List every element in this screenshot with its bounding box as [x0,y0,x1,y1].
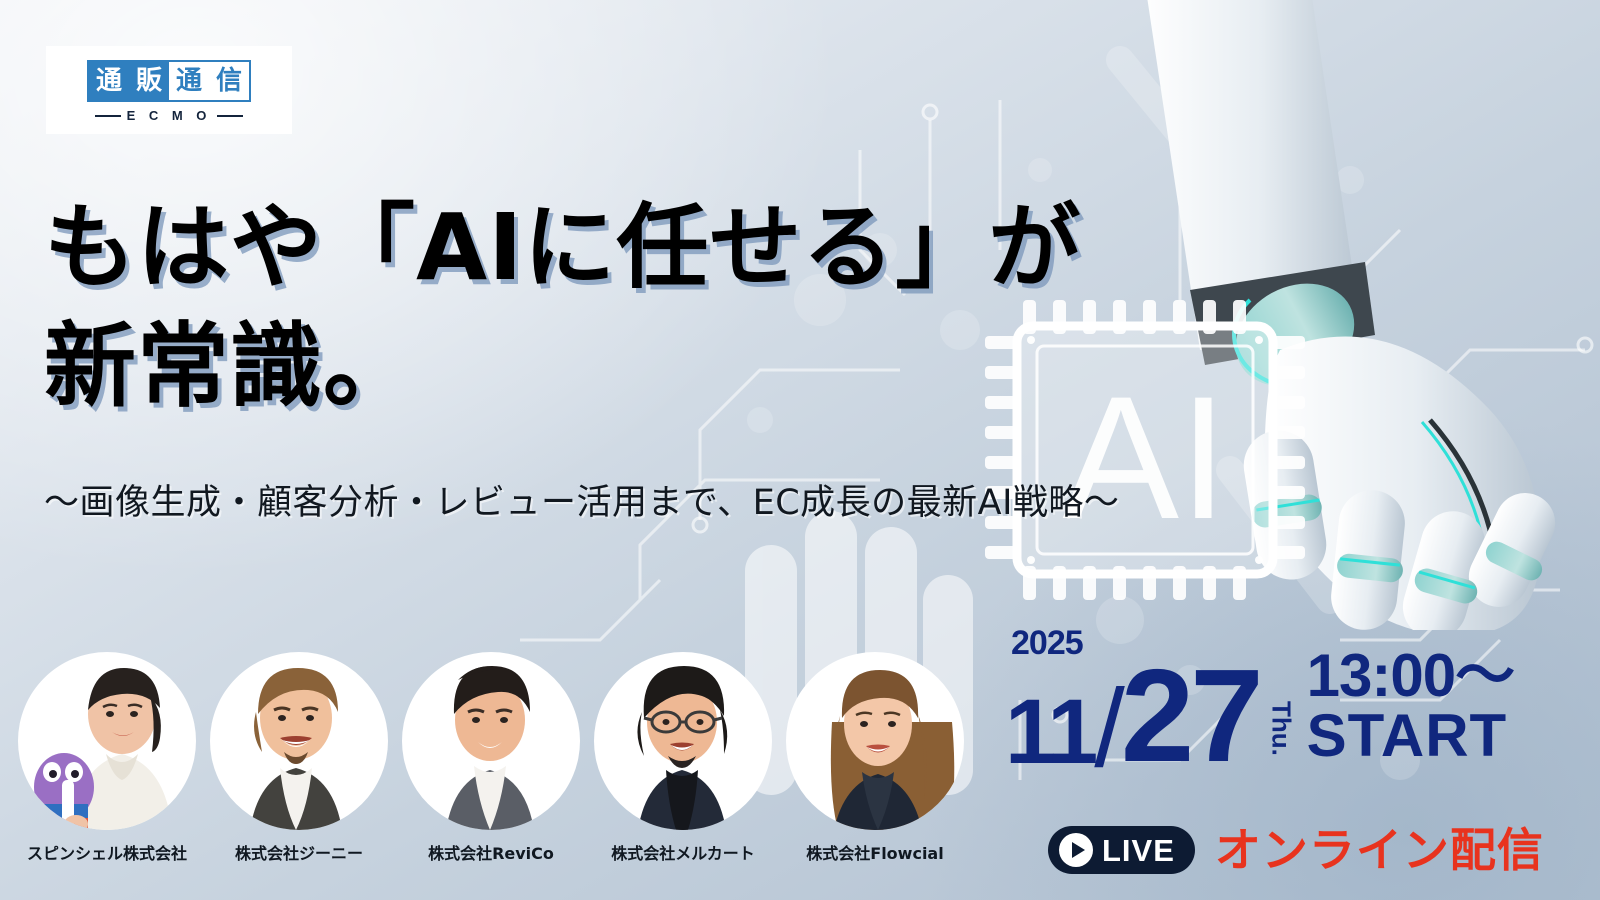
logo-kanji-3: 通 [169,62,209,100]
speaker-item: 株式会社ジーニー [210,652,388,864]
headline-line-1: もはや「AIに任せる」が [44,196,1154,301]
logo-subtitle: E C M O [95,108,244,123]
play-icon [1059,833,1093,867]
start-time-label: 13:00〜 [1307,646,1514,706]
speaker-list: スピンシェル株式会社 株式会社ジーニー [18,652,964,864]
avatar-man-glasses [594,652,772,830]
date-group: 2025 11 / 27 [1005,626,1260,770]
logo-rule-right [217,115,243,117]
play-triangle [1072,842,1085,858]
date-separator: / [1094,684,1125,774]
avatar-man-short-hair [402,652,580,830]
speaker-name: スピンシェル株式会社 [27,840,187,864]
avatar-woman-long-hair [786,652,964,830]
subtitle: 〜画像生成・顧客分析・レビュー活用まで、EC成長の最新AI戦略〜 [44,474,1204,525]
headline-line-2: 新常識。 [44,315,1154,420]
live-label: LIVE [1102,835,1175,866]
speaker-name: 株式会社ReviCo [428,840,554,864]
logo-ecmo-text: E C M O [127,108,212,123]
online-delivery-label: オンライン配信 [1215,827,1544,873]
site-logo[interactable]: 通 販 通 信 E C M O [46,46,292,134]
year-label: 2025 [1011,626,1083,660]
logo-kanji-4: 信 [209,62,249,100]
time-group: 13:00〜 START [1307,646,1514,766]
webinar-banner: 通 販 通 信 E C M O [0,0,1600,900]
broadcast-row: LIVE オンライン配信 [1048,826,1544,874]
speaker-item: スピンシェル株式会社 [18,652,196,864]
logo-kanji-1: 通 [89,62,129,100]
speaker-item: 株式会社メルカート [594,652,772,864]
day-of-week-label: Thu. [1266,701,1297,756]
schedule-block: 2025 11 / 27 Thu. 13:00〜 START [1005,626,1514,770]
speaker-item: 株式会社ReviCo [402,652,580,864]
avatar-woman-with-mascot [18,652,196,830]
speaker-name: 株式会社Flowcial [806,840,943,864]
live-badge[interactable]: LIVE [1048,826,1195,874]
day-label: 27 [1121,662,1260,770]
logo-kanji-2: 販 [129,62,169,100]
speaker-item: 株式会社Flowcial [786,652,964,864]
month-day-group: 11 / 27 [1005,662,1260,770]
speaker-name: 株式会社ジーニー [235,840,363,864]
avatar-man-brown-hair [210,652,388,830]
speaker-name: 株式会社メルカート [611,840,755,864]
month-label: 11 [1005,695,1094,770]
logo-kanji-group: 通 販 通 信 [87,60,251,102]
headline: もはや「AIに任せる」が 新常識。 [44,196,1154,420]
logo-rule-left [95,115,121,117]
start-word-label: START [1307,706,1514,766]
